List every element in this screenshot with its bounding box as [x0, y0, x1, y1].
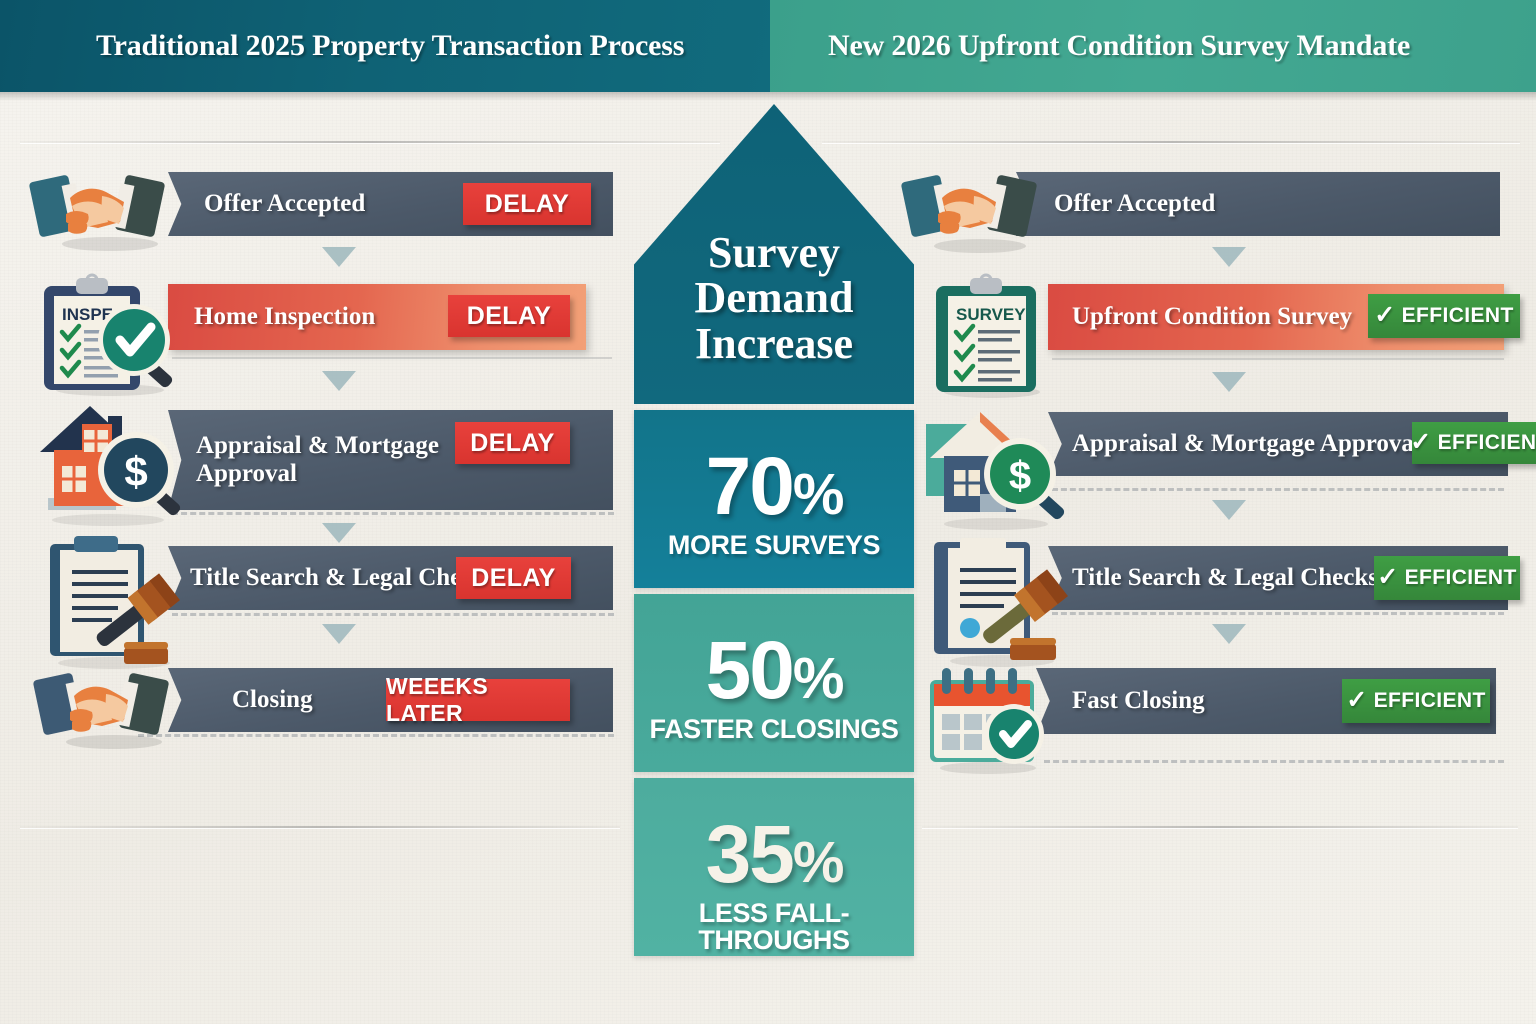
left-badge-weeks-later: WEEEKS LATER — [386, 679, 570, 721]
handshake-icon — [28, 664, 174, 752]
handshake-icon — [900, 166, 1040, 256]
divider-top-left — [20, 141, 720, 143]
left-badge-text: DELAY — [485, 190, 569, 219]
calendar-check-icon — [918, 656, 1058, 776]
header-shadow — [0, 92, 1536, 101]
header-left-title: Traditional 2025 Property Transaction Pr… — [96, 29, 684, 63]
survey-demand-arrow: Survey Demand Increase 70% MORE SURVEYS … — [634, 104, 914, 912]
stat-block-faster-closings: 50% FASTER CLOSINGS — [634, 594, 914, 772]
header-right-title: New 2026 Upfront Condition Survey Mandat… — [828, 29, 1410, 63]
left-badge-text: WEEEKS LATER — [386, 673, 570, 727]
left-badge-delay: DELAY — [455, 422, 570, 464]
left-badge-text: DELAY — [471, 564, 555, 593]
left-step-label: Home Inspection — [194, 303, 375, 331]
left-row-dashline — [172, 512, 614, 515]
svg-text:$: $ — [124, 448, 147, 495]
check-icon: ✓ — [1377, 565, 1398, 590]
left-badge-delay: DELAY — [463, 183, 591, 225]
check-icon: ✓ — [1410, 430, 1431, 455]
right-step-label: Fast Closing — [1072, 687, 1205, 715]
right-badge-text: EFFICIENT — [1405, 566, 1517, 590]
stat-value: 70% — [634, 446, 914, 528]
right-row-underline — [1052, 358, 1504, 360]
document-gavel-icon — [30, 530, 198, 670]
stat-block-less-fall-throughs: 35% LESS FALL-THROUGHS — [634, 778, 914, 956]
left-row-dashline — [172, 613, 614, 616]
right-row-dashline — [1052, 488, 1504, 491]
left-row-dashline — [138, 734, 614, 737]
clipboard-survey-icon: SURVEY — [920, 270, 1060, 398]
right-step-label: Appraisal & Mortgage Approval — [1072, 430, 1421, 458]
right-badge-text: EFFICIENT — [1438, 431, 1536, 455]
left-step-label: Title Search & Legal Checks — [190, 564, 496, 592]
right-step-label: Offer Accepted — [1054, 190, 1215, 218]
svg-text:$: $ — [1009, 454, 1031, 498]
divider-bottom-right — [922, 826, 1518, 828]
stat-caption: LESS FALL-THROUGHS — [634, 900, 914, 954]
right-connector-4 — [1212, 624, 1246, 644]
right-badge-efficient: ✓ EFFICIENT — [1368, 294, 1520, 338]
handshake-icon — [24, 166, 170, 254]
stat-value: 35% — [634, 814, 914, 896]
left-step-label: Appraisal & Mortgage Approval — [196, 432, 439, 488]
left-step-label: Closing — [232, 686, 313, 714]
left-connector-4 — [322, 624, 356, 644]
clipboard-inspect-icon: INSPECT — [26, 272, 194, 396]
stat-caption: MORE SURVEYS — [634, 532, 914, 559]
right-badge-efficient: ✓ EFFICIENT — [1342, 679, 1490, 723]
check-icon: ✓ — [1346, 688, 1367, 713]
right-badge-text: EFFICIENT — [1402, 304, 1514, 328]
house-dollar-green-icon: $ — [918, 402, 1078, 532]
header-left-panel: Traditional 2025 Property Transaction Pr… — [0, 0, 770, 92]
right-row-dashline — [1052, 612, 1504, 615]
right-step-label: Upfront Condition Survey — [1072, 303, 1352, 331]
left-row-underline — [172, 357, 612, 359]
divider-bottom-left — [20, 826, 620, 828]
svg-text:SURVEY: SURVEY — [956, 305, 1026, 324]
stat-block-more-surveys: 70% MORE SURVEYS — [634, 410, 914, 588]
right-badge-text: EFFICIENT — [1374, 689, 1486, 713]
right-row-dashline — [1044, 760, 1504, 763]
arrow-title: Survey Demand Increase — [634, 230, 914, 366]
document-gavel-icon — [922, 528, 1082, 668]
left-badge-text: DELAY — [470, 429, 554, 458]
left-badge-text: DELAY — [467, 302, 551, 331]
left-connector-1 — [322, 247, 356, 267]
left-badge-delay: DELAY — [448, 295, 570, 337]
left-step-label: Offer Accepted — [204, 190, 365, 218]
header-right-panel: New 2026 Upfront Condition Survey Mandat… — [770, 0, 1536, 92]
house-dollar-icon: $ — [26, 398, 196, 528]
right-badge-efficient: ✓ EFFICIENT — [1374, 556, 1520, 600]
right-connector-2 — [1212, 372, 1246, 392]
right-connector-1 — [1212, 247, 1246, 267]
left-connector-2 — [322, 371, 356, 391]
right-step-label: Title Search & Legal Checks — [1072, 564, 1378, 592]
left-connector-3 — [322, 523, 356, 543]
stat-caption: FASTER CLOSINGS — [634, 716, 914, 743]
right-badge-efficient: ✓ EFFICIENT — [1412, 422, 1536, 464]
header-bar: Traditional 2025 Property Transaction Pr… — [0, 0, 1536, 92]
stat-value: 50% — [634, 630, 914, 712]
check-icon: ✓ — [1374, 303, 1395, 328]
right-connector-3 — [1212, 500, 1246, 520]
right-step-bar[interactable]: Offer Accepted — [1016, 172, 1500, 236]
left-badge-delay: DELAY — [456, 557, 571, 599]
divider-top-right — [822, 141, 1520, 143]
